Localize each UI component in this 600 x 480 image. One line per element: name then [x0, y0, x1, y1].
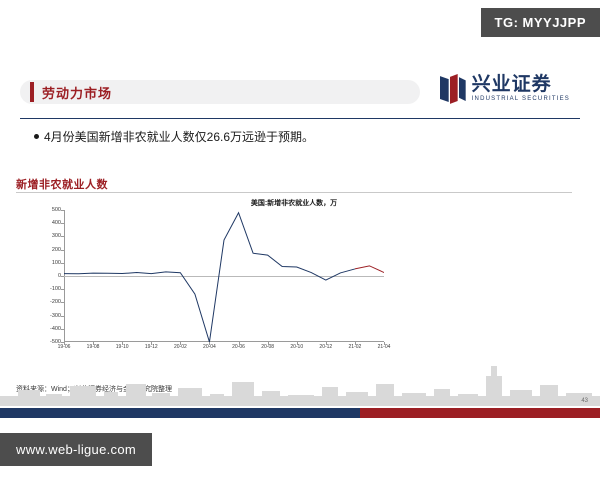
bullet-point: 4月份美国新增非农就业人数仅26.6万远逊于预期。 [34, 128, 314, 145]
y-axis-tick-label: 500 [52, 207, 61, 213]
bullet-dot-icon [34, 134, 39, 139]
footer-bar-red [360, 408, 600, 418]
chart-title: 美国:新增非农就业人数，万 [16, 198, 572, 208]
section-title-text: 劳动力市场 [42, 83, 112, 102]
x-axis-tick-mark [64, 342, 65, 345]
bullet-text: 4月份美国新增非农就业人数仅26.6万远逊于预期。 [44, 130, 314, 144]
x-axis-tick-mark [268, 342, 269, 345]
chart-panel: 美国:新增非农就业人数，万 5004003002001000-100-200-3… [16, 196, 572, 364]
chart-section-subtitle: 新增非农就业人数 [16, 176, 108, 192]
logo-mark-icon [440, 74, 466, 104]
chart-series-line [64, 210, 384, 342]
logo-chinese-name: 兴业证券 [472, 75, 570, 95]
x-axis-tick-mark [355, 342, 356, 345]
y-axis-tick-label: -300 [50, 313, 61, 319]
tg-watermark-badge: TG: MYYJJPP [481, 8, 600, 37]
y-axis-tick-label: -200 [50, 299, 61, 305]
y-axis-tick-label: 200 [52, 247, 61, 253]
y-axis-tick-label: 100 [52, 260, 61, 266]
slide: TG: MYYJJPP 劳动力市场 兴业证券 INDUSTRIAL SECURI… [0, 0, 600, 480]
logo-english-name: INDUSTRIAL SECURITIES [472, 95, 570, 104]
web-watermark-badge: www.web-ligue.com [0, 433, 152, 466]
company-logo: 兴业证券 INDUSTRIAL SECURITIES [440, 74, 570, 104]
y-axis-tick-label: 400 [52, 220, 61, 226]
x-axis-tick-mark [297, 342, 298, 345]
y-axis-tick-label: -400 [50, 326, 61, 332]
x-axis-tick-mark [151, 342, 152, 345]
x-axis-tick-mark [326, 342, 327, 345]
footer-bar-navy [0, 408, 360, 418]
chart-section-divider [16, 192, 572, 193]
x-axis-tick-mark [239, 342, 240, 345]
chart-plot-area: 5004003002001000-100-200-300-400-50019-0… [64, 210, 384, 342]
x-axis-tick-mark [384, 342, 385, 345]
x-axis-tick-mark [209, 342, 210, 345]
x-axis-tick-mark [122, 342, 123, 345]
footer-color-bar [0, 408, 600, 418]
x-axis-tick-mark [180, 342, 181, 345]
page-number: 43 [581, 398, 588, 404]
y-axis-tick-label: 300 [52, 233, 61, 239]
section-title-accent-bar [30, 82, 34, 102]
y-axis-tick-label: -100 [50, 286, 61, 292]
x-axis-tick-mark [93, 342, 94, 345]
skyline-decoration [0, 366, 600, 406]
slide-header: 劳动力市场 兴业证券 INDUSTRIAL SECURITIES [20, 70, 580, 118]
header-divider [20, 118, 580, 119]
